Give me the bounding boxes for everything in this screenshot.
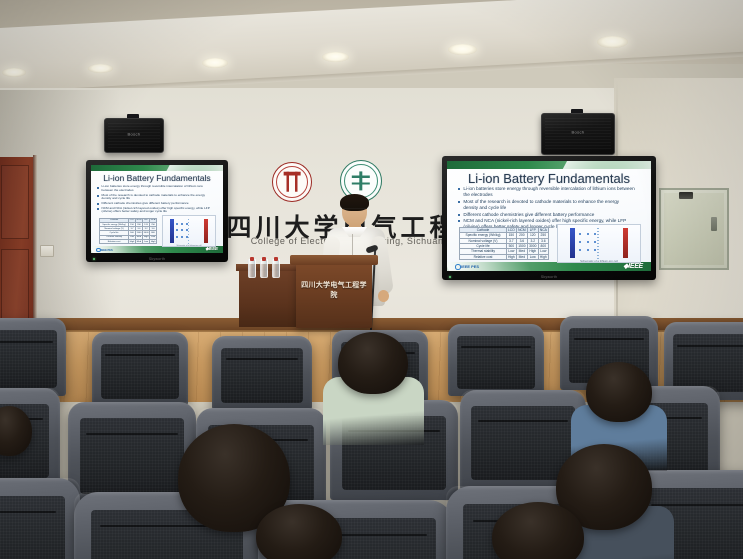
slide-bullet-item: Li-ion batteries store energy through re… xyxy=(102,185,213,193)
auditorium-seat[interactable] xyxy=(92,332,188,406)
figure-cathode xyxy=(204,219,208,243)
li-ion-cell-diagram: Schematic of a lithium-ion cell xyxy=(557,224,641,263)
emblem-glyph xyxy=(352,171,370,190)
table-cell: Med xyxy=(516,254,527,259)
sichuan-university-emblem xyxy=(272,162,312,202)
wall-speaker-left: Bosch xyxy=(104,118,164,153)
display-left[interactable]: Li-ion Battery FundamentalsLi-ion batter… xyxy=(86,160,228,262)
figure-lithium-ion xyxy=(594,233,596,235)
figure-separator xyxy=(597,228,599,259)
table-cell: Relative cost xyxy=(99,239,128,243)
figure-lithium-ion xyxy=(579,241,581,243)
slide-comparison-table: CathodeLCONCMLFPNCASpecific energy (Wh/k… xyxy=(459,227,549,260)
recessed-downlight-4 xyxy=(322,52,349,62)
figure-lithium-ion xyxy=(587,249,589,251)
recessed-downlight-3 xyxy=(202,58,228,68)
table-cell: Med xyxy=(135,239,142,243)
podium: 四川大学电气工程学院 xyxy=(296,262,372,328)
pes-ring-icon xyxy=(455,264,461,270)
speaker-brand-label: Bosch xyxy=(571,130,584,135)
figure-lithium-ion xyxy=(587,241,589,243)
slide-bullet-list: Li-ion batteries store energy through re… xyxy=(102,185,213,215)
water-bottle xyxy=(272,259,280,278)
seat-rim xyxy=(92,332,188,406)
seat-rim xyxy=(0,318,66,396)
table-cell: High xyxy=(506,254,516,259)
figure-lithium-ion xyxy=(176,223,178,225)
lecture-hall-photo: BoschBosch 四川大学电气工程学院 College of Electri… xyxy=(0,0,743,559)
display-brand-label: Skyworth xyxy=(541,275,557,279)
power-led-icon xyxy=(449,276,451,278)
auditorium-seat[interactable] xyxy=(0,478,80,559)
bottle-cap xyxy=(262,257,266,261)
li-ion-cell-diagram: Schematic of a lithium-ion cell xyxy=(162,215,217,247)
figure-lithium-ion xyxy=(579,233,581,235)
table-cell: High xyxy=(538,254,548,259)
presentation-slide: Li-ion Battery FundamentalsLi-ion batter… xyxy=(91,165,223,253)
ieee-pes-logo: IEEE PES xyxy=(455,264,479,270)
table-cell: Specific energy (Wh/kg) xyxy=(460,233,507,238)
ieee-logo: ◆IEEE xyxy=(205,246,218,252)
ieee-logo: ◆IEEE xyxy=(623,262,643,270)
seat-rim xyxy=(448,324,544,396)
pes-ring-icon xyxy=(96,248,100,252)
table-row: Relative costHighMedLowHigh xyxy=(460,254,549,259)
figure-cathode xyxy=(623,228,629,258)
water-bottle xyxy=(260,259,268,278)
figure-lithium-ion xyxy=(176,236,178,238)
figure-lithium-ion xyxy=(181,236,183,238)
figure-lithium-ion xyxy=(176,229,178,231)
slide-title: Li-ion Battery Fundamentals xyxy=(447,171,651,186)
slide-bullet-item: NCM and NCA (nickel-rich layered oxides)… xyxy=(102,207,213,215)
slide-comparison-table: CathodeLCONCMLFPNCASpecific energy (Wh/k… xyxy=(99,218,157,244)
emblem-glyph xyxy=(284,172,301,192)
power-led-icon xyxy=(93,258,95,260)
glasses-icon xyxy=(342,208,367,213)
podium-nameplate: 四川大学电气工程学院 xyxy=(300,280,368,300)
seat-rim xyxy=(68,402,196,504)
auditorium-seat[interactable] xyxy=(212,336,312,410)
display-brand-label: Skyworth xyxy=(149,257,165,261)
figure-anode xyxy=(570,228,576,258)
attendee-right-front-head xyxy=(586,362,652,422)
figure-lithium-ion xyxy=(181,223,183,225)
auditorium-seat[interactable] xyxy=(68,402,196,504)
figure-lithium-ion xyxy=(579,249,581,251)
table-row: Relative costHighMedLowHigh xyxy=(99,239,156,243)
seat-rim xyxy=(0,478,80,559)
recessed-downlight-1 xyxy=(2,68,26,77)
slide-bullet-item: Most of the research is devoted to catho… xyxy=(463,199,634,211)
attendee-front-left-head xyxy=(338,332,408,394)
auditorium-seat[interactable] xyxy=(0,318,66,396)
recessed-downlight-5 xyxy=(448,44,477,55)
presentation-slide: Li-ion Battery FundamentalsLi-ion batter… xyxy=(447,161,651,271)
presenter-hand xyxy=(378,290,389,302)
auditorium-seat[interactable] xyxy=(448,324,544,396)
slide-title: Li-ion Battery Fundamentals xyxy=(91,173,223,183)
slide-bullet-item: Li-ion batteries store energy through re… xyxy=(463,186,634,198)
table-cell: High xyxy=(129,239,136,243)
speaker-brand-label: Bosch xyxy=(127,132,140,137)
figure-lithium-ion xyxy=(594,249,596,251)
recessed-downlight-6 xyxy=(597,36,628,48)
attendee-bottom-center-head xyxy=(256,504,342,559)
figure-lithium-ion xyxy=(181,229,183,231)
figure-lithium-ion xyxy=(594,241,596,243)
recessed-downlight-2 xyxy=(88,64,113,73)
figure-lithium-ion xyxy=(587,233,589,235)
access-panel-vent-icon xyxy=(679,192,693,199)
table-cell: Low xyxy=(143,239,150,243)
water-bottle xyxy=(248,259,256,278)
podium-top xyxy=(290,255,378,265)
bottle-cap xyxy=(274,257,278,261)
table-cell: Low xyxy=(527,254,538,259)
bottle-cap xyxy=(250,257,254,261)
slide-header-band xyxy=(447,161,651,169)
slide-bullet-item: Different cathode chemistries give diffe… xyxy=(463,212,634,218)
table-cell: High xyxy=(150,239,157,243)
slide-header-band xyxy=(91,165,223,171)
display-right[interactable]: Li-ion Battery FundamentalsLi-ion batter… xyxy=(442,156,656,280)
seat-rim xyxy=(212,336,312,410)
light-switch-plate[interactable] xyxy=(40,245,54,257)
ieee-pes-logo: IEEE PES xyxy=(96,248,112,252)
table-cell: Relative cost xyxy=(460,254,507,259)
figure-anode xyxy=(170,219,174,243)
figure-separator xyxy=(188,219,189,244)
figure-lithium-ion xyxy=(186,223,188,225)
figure-lithium-ion xyxy=(186,236,188,238)
wall-speaker-right: Bosch xyxy=(541,113,615,155)
